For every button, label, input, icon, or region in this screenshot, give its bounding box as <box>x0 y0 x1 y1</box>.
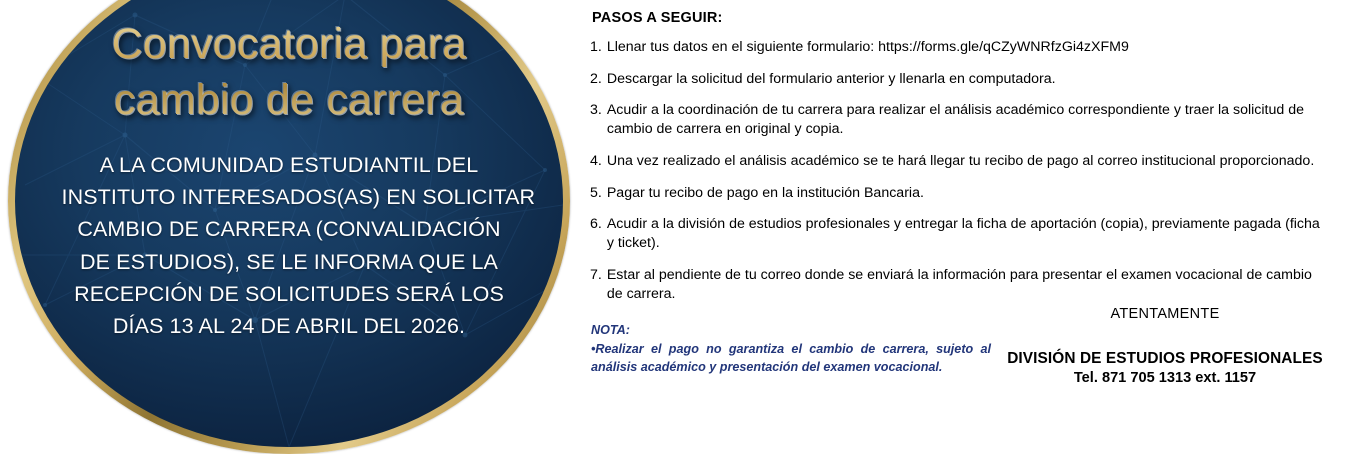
step-text: Llenar tus datos en el siguiente formula… <box>607 38 1320 57</box>
step-number: 5. <box>590 184 607 203</box>
step-text: Una vez realizado el análisis académico … <box>607 152 1320 171</box>
badge-title: Convocatoria para cambio de carrera <box>54 17 524 129</box>
badge-navy-interior: Convocatoria para cambio de carrera A LA… <box>15 0 563 447</box>
nota-block: NOTA: •Realizar el pago no garantiza el … <box>591 322 991 377</box>
step-text: Acudir a la división de estudios profesi… <box>607 215 1320 252</box>
convocatoria-poster: Convocatoria para cambio de carrera A LA… <box>0 0 1350 400</box>
list-item: 3. Acudir a la coordinación de tu carrer… <box>590 101 1320 138</box>
badge-announcement-text: A LA COMUNIDAD ESTUDIANTIL DEL INSTITUTO… <box>62 149 517 343</box>
step-number: 1. <box>590 38 607 57</box>
nota-label: NOTA: <box>591 322 991 340</box>
nota-text: •Realizar el pago no garantiza el cambio… <box>591 341 991 377</box>
badge-body-line-5: RECEPCIÓN DE SOLICITUDES SERÁ LOS <box>62 278 517 310</box>
signature-phone: Tel. 871 705 1313 ext. 1157 <box>990 370 1340 386</box>
step-number: 4. <box>590 152 607 171</box>
step-text: Acudir a la coordinación de tu carrera p… <box>607 101 1320 138</box>
steps-column: PASOS A SEGUIR: 1. Llenar tus datos en e… <box>590 0 1340 400</box>
step-number: 7. <box>590 266 607 303</box>
badge-body-line-3: CAMBIO DE CARRERA (CONVALIDACIÓN <box>62 213 517 245</box>
step-number: 3. <box>590 101 607 138</box>
badge-body-line-6: DÍAS 13 AL 24 DE ABRIL DEL 2026. <box>62 310 517 342</box>
list-item: 2. Descargar la solicitud del formulario… <box>590 70 1320 89</box>
list-item: 1. Llenar tus datos en el siguiente form… <box>590 38 1320 57</box>
badge-body-line-2: INSTITUTO INTERESADOS(AS) EN SOLICITAR <box>62 181 517 213</box>
list-item: 6. Acudir a la división de estudios prof… <box>590 215 1320 252</box>
step-text: Pagar tu recibo de pago en la institució… <box>607 184 1320 203</box>
steps-list: 1. Llenar tus datos en el siguiente form… <box>590 38 1320 316</box>
badge-body-line-4: DE ESTUDIOS), SE LE INFORMA QUE LA <box>62 246 517 278</box>
steps-heading: PASOS A SEGUIR: <box>592 10 723 26</box>
step-text: Estar al pendiente de tu correo donde se… <box>607 266 1320 303</box>
badge-title-line-1: Convocatoria para <box>112 20 467 68</box>
badge-body-line-1: A LA COMUNIDAD ESTUDIANTIL DEL <box>62 149 517 181</box>
signature-block: ATENTAMENTE DIVISIÓN DE ESTUDIOS PROFESI… <box>990 306 1340 386</box>
list-item: 7. Estar al pendiente de tu correo donde… <box>590 266 1320 303</box>
step-number: 6. <box>590 215 607 252</box>
badge-title-line-2: cambio de carrera <box>114 76 464 124</box>
signature-atentamente: ATENTAMENTE <box>990 306 1340 322</box>
list-item: 4. Una vez realizado el análisis académi… <box>590 152 1320 171</box>
step-number: 2. <box>590 70 607 89</box>
oval-badge: Convocatoria para cambio de carrera A LA… <box>8 0 570 454</box>
signature-department: DIVISIÓN DE ESTUDIOS PROFESIONALES <box>990 350 1340 368</box>
step-text: Descargar la solicitud del formulario an… <box>607 70 1320 89</box>
list-item: 5. Pagar tu recibo de pago en la institu… <box>590 184 1320 203</box>
